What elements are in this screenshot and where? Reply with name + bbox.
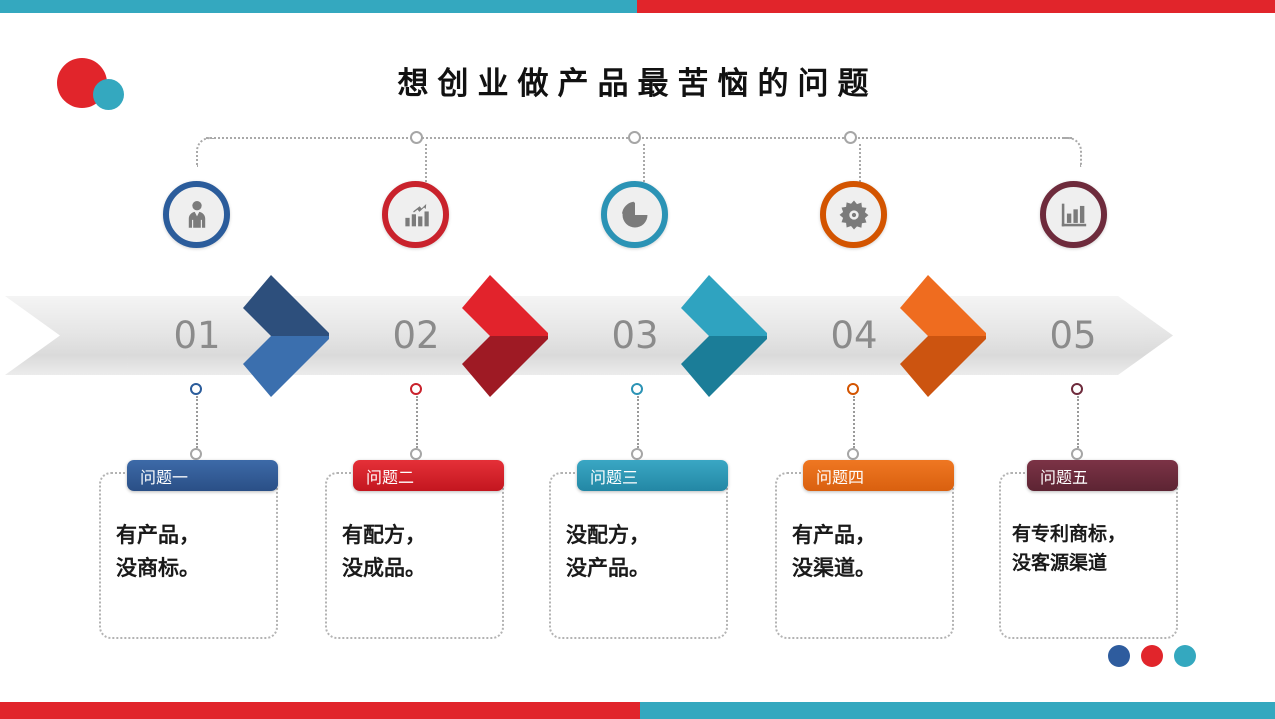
lower-dot-bottom-3 <box>631 448 643 460</box>
step-icon-pie-chart[interactable] <box>601 181 668 248</box>
chevron-4-bottom <box>900 336 1008 397</box>
chevron-3-bottom <box>681 336 789 397</box>
chevron-4-top <box>900 275 1008 336</box>
problem-card-5[interactable]: 问题五 有专利商标， 没客源渠道 <box>999 472 1178 639</box>
chevron-1-bottom <box>243 336 351 397</box>
card-5-header: 问题五 <box>1027 460 1178 491</box>
lower-dotted-line-4 <box>853 396 855 448</box>
connector-corner-right <box>1064 137 1082 167</box>
card-2-header: 问题二 <box>353 460 504 491</box>
bottom-accent-bar <box>0 702 1275 719</box>
bar-chart-axis-icon <box>1057 198 1091 232</box>
step-icon-bar-chart[interactable] <box>1040 181 1107 248</box>
card-4-line-1: 有产品， <box>792 520 952 553</box>
bottom-dot-red <box>1141 645 1163 667</box>
top-bar-teal-segment <box>0 0 637 13</box>
chevron-1-top <box>243 275 351 336</box>
step-number-04: 04 <box>794 296 914 375</box>
connector-node-4 <box>844 131 857 144</box>
lower-dot-bottom-4 <box>847 448 859 460</box>
card-2-line-1: 有配方， <box>342 520 502 553</box>
card-1-body: 有产品， 没商标。 <box>116 520 276 585</box>
step-number-01: 01 <box>137 296 257 375</box>
step-number-05: 05 <box>1013 296 1133 375</box>
connector-stub-3 <box>643 144 645 182</box>
card-3-header: 问题三 <box>577 460 728 491</box>
lower-dot-bottom-1 <box>190 448 202 460</box>
card-4-body: 有产品， 没渠道。 <box>792 520 952 585</box>
bottom-dot-teal <box>1174 645 1196 667</box>
bottom-dot-blue <box>1108 645 1130 667</box>
bottom-bar-red-segment <box>0 702 640 719</box>
connector-corner-left <box>196 137 214 167</box>
chevron-3-top <box>681 275 789 336</box>
chevron-divider-2 <box>462 275 570 397</box>
step-number-03: 03 <box>575 296 695 375</box>
card-3-line-1: 没配方， <box>566 520 726 553</box>
lower-dot-top-1 <box>190 383 202 395</box>
card-5-line-2: 没客源渠道 <box>1012 549 1180 578</box>
card-1-line-1: 有产品， <box>116 520 276 553</box>
lower-dotted-line-1 <box>196 396 198 448</box>
card-1-line-2: 没商标。 <box>116 553 276 586</box>
chevron-divider-3 <box>681 275 789 397</box>
lower-dot-top-4 <box>847 383 859 395</box>
businessperson-icon <box>180 198 214 232</box>
connector-stub-2 <box>425 144 427 182</box>
lower-dotted-line-5 <box>1077 396 1079 448</box>
connector-node-3 <box>628 131 641 144</box>
lower-dot-bottom-2 <box>410 448 422 460</box>
bar-chart-growth-icon <box>399 198 433 232</box>
problem-card-4[interactable]: 问题四 有产品， 没渠道。 <box>775 472 954 639</box>
card-4-line-2: 没渠道。 <box>792 553 952 586</box>
lower-dotted-line-3 <box>637 396 639 448</box>
slide-canvas: 想创业做产品最苦恼的问题 <box>0 0 1275 719</box>
step-icon-gear[interactable] <box>820 181 887 248</box>
step-number-02: 02 <box>356 296 476 375</box>
lower-dot-top-3 <box>631 383 643 395</box>
card-2-line-2: 没成品。 <box>342 553 502 586</box>
lower-dotted-line-2 <box>416 396 418 448</box>
card-1-header: 问题一 <box>127 460 278 491</box>
top-bar-red-segment <box>637 0 1275 13</box>
page-title: 想创业做产品最苦恼的问题 <box>0 58 1275 103</box>
chevron-2-bottom <box>462 336 570 397</box>
card-3-line-2: 没产品。 <box>566 553 726 586</box>
connector-node-2 <box>410 131 423 144</box>
card-2-body: 有配方， 没成品。 <box>342 520 502 585</box>
lower-dot-bottom-5 <box>1071 448 1083 460</box>
chevron-2-top <box>462 275 570 336</box>
card-5-body: 有专利商标， 没客源渠道 <box>1012 520 1180 579</box>
bottom-decorative-dots <box>1108 645 1196 667</box>
connector-stub-4 <box>859 144 861 182</box>
problem-card-2[interactable]: 问题二 有配方， 没成品。 <box>325 472 504 639</box>
card-3-body: 没配方， 没产品。 <box>566 520 726 585</box>
bottom-bar-teal-segment <box>640 702 1275 719</box>
chevron-divider-4 <box>900 275 1008 397</box>
pie-chart-icon <box>618 198 652 232</box>
card-4-header: 问题四 <box>803 460 954 491</box>
step-icon-growth-chart[interactable] <box>382 181 449 248</box>
top-accent-bar <box>0 0 1275 13</box>
lower-dot-top-5 <box>1071 383 1083 395</box>
problem-card-1[interactable]: 问题一 有产品， 没商标。 <box>99 472 278 639</box>
lower-dot-top-2 <box>410 383 422 395</box>
card-5-line-1: 有专利商标， <box>1012 520 1180 549</box>
gear-icon <box>837 198 871 232</box>
chevron-divider-1 <box>243 275 351 397</box>
step-icon-businessperson[interactable] <box>163 181 230 248</box>
problem-card-3[interactable]: 问题三 没配方， 没产品。 <box>549 472 728 639</box>
